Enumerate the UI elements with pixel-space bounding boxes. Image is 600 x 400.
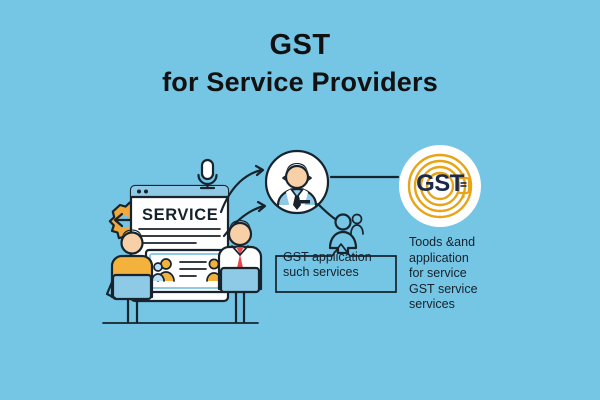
speech-bubble xyxy=(276,244,396,292)
microphone-icon xyxy=(199,160,217,188)
gst-badge xyxy=(399,145,481,227)
browser-dot xyxy=(144,190,148,194)
users-icon xyxy=(330,215,363,254)
illustration-svg: .ln { fill:none; stroke:#17232d; stroke-… xyxy=(0,0,600,400)
browser-dot xyxy=(137,190,141,194)
poster-canvas: .ln { fill:none; stroke:#17232d; stroke-… xyxy=(0,0,600,400)
